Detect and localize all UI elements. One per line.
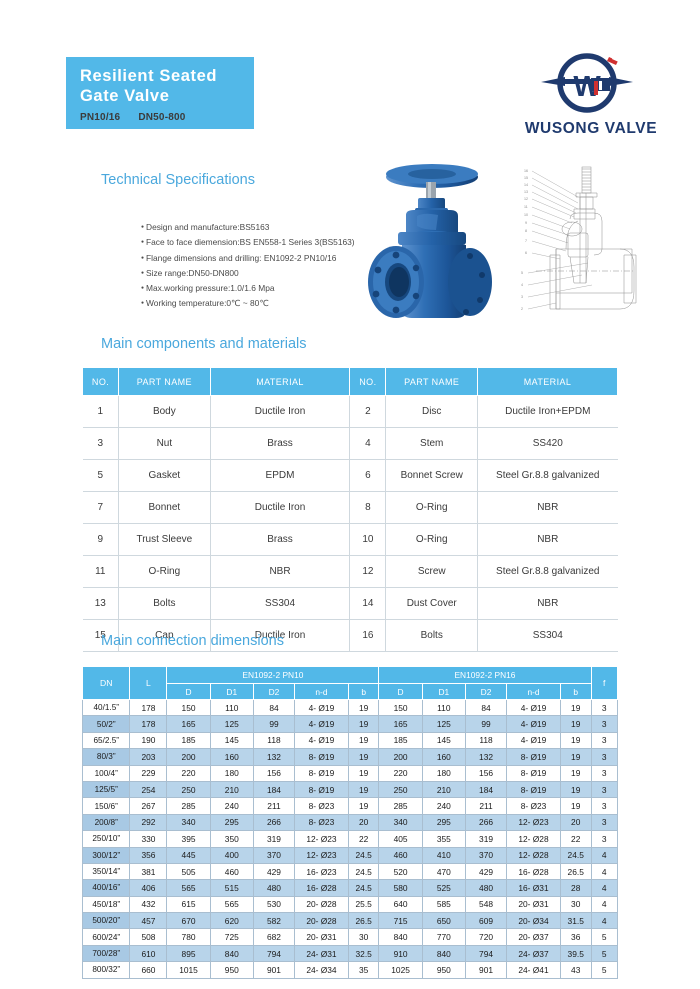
svg-text:16: 16 xyxy=(524,169,528,173)
dimensions-cell: 240 xyxy=(422,798,465,814)
technical-specifications-heading: Technical Specifications xyxy=(101,172,255,188)
dimensions-cell: 12- Ø28 xyxy=(507,831,561,847)
svg-text:7: 7 xyxy=(525,239,527,243)
table-row: 600/24”50878072568220- Ø313084077072020-… xyxy=(83,929,618,945)
table-row: 13 Bolts SS304 14 Dust Cover NBR xyxy=(83,588,618,620)
dimensions-cell: 24- Ø37 xyxy=(507,945,561,961)
dimensions-cell: 292 xyxy=(130,814,167,830)
table-row: 700/28”61089584079424- Ø3132.59108407942… xyxy=(83,945,618,961)
dimensions-table-body: 40/1.5”178150110844- Ø1919150110844- Ø19… xyxy=(83,700,618,979)
cell: NBR xyxy=(478,588,618,620)
dimensions-cell: 8- Ø19 xyxy=(295,765,349,781)
dimensions-cell-dn: 200/8” xyxy=(83,814,130,830)
dimensions-cell: 19 xyxy=(560,749,591,765)
dimensions-cell: 132 xyxy=(465,749,506,765)
dimensions-cell: 381 xyxy=(130,863,167,879)
dimensions-cell: 340 xyxy=(379,814,422,830)
cell: Disc xyxy=(386,396,478,428)
dimensions-cell: 84 xyxy=(465,700,506,716)
cell: 11 xyxy=(83,556,119,588)
dimensions-cell: 184 xyxy=(465,781,506,797)
dimensions-cell: 180 xyxy=(422,765,465,781)
dimensions-cell: 340 xyxy=(167,814,210,830)
dimensions-cell: 267 xyxy=(130,798,167,814)
product-title-line2: Gate Valve xyxy=(80,86,254,106)
dimensions-cell: 145 xyxy=(422,732,465,748)
table-row: 50/2”178165125994- Ø1919165125994- Ø1919… xyxy=(83,716,618,732)
dimensions-cell: 118 xyxy=(465,732,506,748)
dimensions-cell: 39.5 xyxy=(560,945,591,961)
materials-header-cell: PART NAME xyxy=(119,368,211,396)
dimensions-cell: 20- Ø28 xyxy=(295,896,349,912)
dimensions-cell: 185 xyxy=(379,732,422,748)
dimensions-cell: 24- Ø34 xyxy=(295,962,349,978)
svg-text:3: 3 xyxy=(521,295,523,299)
product-title-line1: Resilient Seated xyxy=(80,66,254,86)
cell: O-Ring xyxy=(386,524,478,556)
dimensions-group-pn10: EN1092-2 PN10 xyxy=(167,667,379,684)
dimensions-cell-dn: 50/2” xyxy=(83,716,130,732)
dimensions-cell: 19 xyxy=(348,781,379,797)
wusong-circle-w-logo-icon: W xyxy=(535,52,639,118)
dimensions-cell: 910 xyxy=(379,945,422,961)
dimensions-cell: 30 xyxy=(348,929,379,945)
dimensions-cell: 178 xyxy=(130,716,167,732)
brand-name: WUSONG VALVE xyxy=(505,120,677,138)
dimensions-cell: 19 xyxy=(560,716,591,732)
cell: 4 xyxy=(350,428,386,460)
dimensions-cell: 4- Ø19 xyxy=(295,716,349,732)
dimensions-cell-dn: 80/3” xyxy=(83,749,130,765)
dimensions-cell: 266 xyxy=(465,814,506,830)
cell: Ductile Iron xyxy=(210,492,350,524)
dimensions-cell: 31.5 xyxy=(560,913,591,929)
dimensions-cell: 3 xyxy=(591,749,618,765)
dimensions-cell: 25.5 xyxy=(348,896,379,912)
dimensions-cell: 211 xyxy=(253,798,294,814)
dimensions-cell: 165 xyxy=(379,716,422,732)
cell: Bonnet Screw xyxy=(386,460,478,492)
dimensions-cell: 24.5 xyxy=(348,847,379,863)
dimensions-cell-dn: 600/24” xyxy=(83,929,130,945)
product-photo xyxy=(362,160,512,325)
dimensions-cell: 615 xyxy=(167,896,210,912)
dimensions-cell-dn: 100/4” xyxy=(83,765,130,781)
cell: Bonnet xyxy=(119,492,211,524)
dimensions-cell: 4- Ø19 xyxy=(295,700,349,716)
table-row: 5 Gasket EPDM 6 Bonnet Screw Steel Gr.8.… xyxy=(83,460,618,492)
dimensions-cell: 184 xyxy=(253,781,294,797)
dimensions-cell: 24.5 xyxy=(348,880,379,896)
dimensions-cell: 19 xyxy=(560,700,591,716)
dimensions-cell: 395 xyxy=(167,831,210,847)
dimensions-cell: 585 xyxy=(422,896,465,912)
dimensions-cell: 19 xyxy=(348,765,379,781)
dimensions-header-cell: n-d xyxy=(507,684,561,700)
cell: Brass xyxy=(210,524,350,556)
dimensions-cell: 266 xyxy=(253,814,294,830)
cell: NBR xyxy=(478,492,618,524)
dimensions-cell: 895 xyxy=(167,945,210,961)
table-row: 100/4”2292201801568- Ø19192201801568- Ø1… xyxy=(83,765,618,781)
dimensions-cell: 355 xyxy=(422,831,465,847)
dimensions-cell: 110 xyxy=(422,700,465,716)
dimensions-cell: 950 xyxy=(210,962,253,978)
product-subtitle-dn: DN50-800 xyxy=(138,112,185,123)
cell: Nut xyxy=(119,428,211,460)
dimensions-cell: 156 xyxy=(465,765,506,781)
table-row: 150/6”2672852402118- Ø23192852402118- Ø2… xyxy=(83,798,618,814)
dimensions-cell: 429 xyxy=(465,863,506,879)
dimensions-cell: 457 xyxy=(130,913,167,929)
cell: Trust Sleeve xyxy=(119,524,211,556)
dimensions-cell: 32.5 xyxy=(348,945,379,961)
dimensions-cell: 26.5 xyxy=(560,863,591,879)
dimensions-cell-dn: 350/14” xyxy=(83,863,130,879)
table-row: 350/14”38150546042916- Ø2324.55204704291… xyxy=(83,863,618,879)
dimensions-cell: 580 xyxy=(379,880,422,896)
dimensions-cell: 3 xyxy=(591,732,618,748)
dimensions-cell: 410 xyxy=(422,847,465,863)
dimensions-cell: 319 xyxy=(465,831,506,847)
svg-text:6: 6 xyxy=(525,251,527,255)
table-row: 125/5”2542502101848- Ø19192502101848- Ø1… xyxy=(83,781,618,797)
dimensions-cell: 901 xyxy=(465,962,506,978)
dimensions-cell: 4 xyxy=(591,863,618,879)
dimensions-cell-dn: 700/28” xyxy=(83,945,130,961)
cell: NBR xyxy=(210,556,350,588)
dimensions-cell: 3 xyxy=(591,814,618,830)
dimensions-cell: 5 xyxy=(591,962,618,978)
dimensions-cell: 620 xyxy=(210,913,253,929)
svg-text:5: 5 xyxy=(521,271,523,275)
dimensions-cell: 250 xyxy=(167,781,210,797)
dimensions-cell: 19 xyxy=(560,765,591,781)
table-row: 300/12”35644540037012- Ø2324.54604103701… xyxy=(83,847,618,863)
dimensions-cell: 670 xyxy=(167,913,210,929)
dimensions-cell: 370 xyxy=(465,847,506,863)
dimensions-cell: 99 xyxy=(465,716,506,732)
svg-text:15: 15 xyxy=(524,176,528,180)
dimensions-table: DN L EN1092-2 PN10 EN1092-2 PN16 f D D1 … xyxy=(82,666,618,979)
dimensions-cell: 725 xyxy=(210,929,253,945)
cell: 9 xyxy=(83,524,119,556)
dimensions-cell: 4- Ø19 xyxy=(507,716,561,732)
dimensions-cell: 12- Ø28 xyxy=(507,847,561,863)
dimensions-cell: 330 xyxy=(130,831,167,847)
dimensions-cell: 160 xyxy=(210,749,253,765)
dimensions-cell-dn: 800/32” xyxy=(83,962,130,978)
dimensions-cell: 28 xyxy=(560,880,591,896)
dimensions-cell: 794 xyxy=(465,945,506,961)
dimensions-cell: 8- Ø23 xyxy=(295,798,349,814)
materials-table-header-row: NO. PART NAME MATERIAL NO. PART NAME MAT… xyxy=(83,368,618,396)
dimensions-header-cell: D1 xyxy=(210,684,253,700)
table-row: 200/8”2923402952668- Ø232034029526612- Ø… xyxy=(83,814,618,830)
cell: EPDM xyxy=(210,460,350,492)
dimensions-cell: 3 xyxy=(591,716,618,732)
dimensions-cell: 26.5 xyxy=(348,913,379,929)
dimensions-cell: 24.5 xyxy=(348,863,379,879)
dimensions-cell: 4 xyxy=(591,913,618,929)
product-title-box: Resilient Seated Gate Valve PN10/16DN50-… xyxy=(66,57,254,129)
svg-text:13: 13 xyxy=(524,190,528,194)
dimensions-cell: 4- Ø19 xyxy=(507,732,561,748)
dimensions-cell: 19 xyxy=(560,781,591,797)
dimensions-cell: 840 xyxy=(422,945,465,961)
table-row: 40/1.5”178150110844- Ø1919150110844- Ø19… xyxy=(83,700,618,716)
svg-text:12: 12 xyxy=(524,197,528,201)
dimensions-cell: 240 xyxy=(210,798,253,814)
dimensions-cell: 356 xyxy=(130,847,167,863)
dimensions-cell: 565 xyxy=(210,896,253,912)
table-row: 250/10”33039535031912- Ø232240535531912-… xyxy=(83,831,618,847)
dimensions-cell: 794 xyxy=(253,945,294,961)
dimensions-cell: 8- Ø19 xyxy=(507,749,561,765)
dimensions-cell: 19 xyxy=(348,700,379,716)
dimensions-cell: 110 xyxy=(210,700,253,716)
svg-text:10: 10 xyxy=(524,213,528,217)
dimensions-cell-dn: 450/18” xyxy=(83,896,130,912)
dimensions-cell: 20 xyxy=(348,814,379,830)
table-row: 80/3”2032001601328- Ø19192001601328- Ø19… xyxy=(83,749,618,765)
dimensions-group-pn16: EN1092-2 PN16 xyxy=(379,667,591,684)
dimensions-cell: 460 xyxy=(210,863,253,879)
dimensions-cell: 720 xyxy=(465,929,506,945)
dimensions-cell: 16- Ø28 xyxy=(295,880,349,896)
dimensions-cell: 901 xyxy=(253,962,294,978)
table-row: 11 O-Ring NBR 12 Screw Steel Gr.8.8 galv… xyxy=(83,556,618,588)
cell: 12 xyxy=(350,556,386,588)
product-subtitle-pn: PN10/16 xyxy=(80,112,120,123)
cell: Body xyxy=(119,396,211,428)
svg-text:11: 11 xyxy=(524,205,528,209)
table-row: 1 Body Ductile Iron 2 Disc Ductile Iron+… xyxy=(83,396,618,428)
dimensions-cell: 400 xyxy=(210,847,253,863)
dimensions-cell: 406 xyxy=(130,880,167,896)
dimensions-group-header-row: DN L EN1092-2 PN10 EN1092-2 PN16 f xyxy=(83,667,618,684)
dimensions-cell: 650 xyxy=(422,913,465,929)
dimensions-cell: 780 xyxy=(167,929,210,945)
dimensions-cell: 4 xyxy=(591,896,618,912)
dimensions-cell: 770 xyxy=(422,929,465,945)
dimensions-header-cell: b xyxy=(348,684,379,700)
cell: SS420 xyxy=(478,428,618,460)
dimensions-cell: 295 xyxy=(422,814,465,830)
dimensions-cell: 190 xyxy=(130,732,167,748)
dimensions-cell: 429 xyxy=(253,863,294,879)
dimensions-cell: 150 xyxy=(379,700,422,716)
dimensions-cell-dn: 150/6” xyxy=(83,798,130,814)
dimensions-cell: 350 xyxy=(210,831,253,847)
svg-text:9: 9 xyxy=(525,221,527,225)
main-components-heading: Main components and materials xyxy=(101,336,307,352)
dimensions-cell: 520 xyxy=(379,863,422,879)
dimensions-cell: 16- Ø23 xyxy=(295,863,349,879)
dimensions-cell: 150 xyxy=(167,700,210,716)
dimensions-cell: 319 xyxy=(253,831,294,847)
dimensions-cell: 254 xyxy=(130,781,167,797)
dimensions-cell: 1025 xyxy=(379,962,422,978)
dimensions-cell: 99 xyxy=(253,716,294,732)
dimensions-cell: 19 xyxy=(348,716,379,732)
dimensions-cell: 200 xyxy=(167,749,210,765)
dimensions-cell: 132 xyxy=(253,749,294,765)
dimensions-cell: 180 xyxy=(210,765,253,781)
cell: Steel Gr.8.8 galvanized xyxy=(478,556,618,588)
dimensions-cell: 203 xyxy=(130,749,167,765)
dimensions-cell: 20- Ø34 xyxy=(507,913,561,929)
dimensions-cell: 3 xyxy=(591,781,618,797)
dimensions-header-cell: n-d xyxy=(295,684,349,700)
dimensions-cell: 16- Ø28 xyxy=(507,863,561,879)
materials-header-cell: NO. xyxy=(83,368,119,396)
dimensions-cell: 3 xyxy=(591,700,618,716)
dimensions-cell: 370 xyxy=(253,847,294,863)
dimensions-cell: 565 xyxy=(167,880,210,896)
cell: 5 xyxy=(83,460,119,492)
dimensions-cell: 250 xyxy=(379,781,422,797)
dimensions-cell: 12- Ø23 xyxy=(295,831,349,847)
dimensions-cell: 35 xyxy=(348,962,379,978)
materials-header-cell: MATERIAL xyxy=(210,368,350,396)
cell: SS304 xyxy=(478,620,618,652)
table-row: 800/32”660101595090124- Ø343510259509012… xyxy=(83,962,618,978)
dimensions-header-cell: D xyxy=(167,684,210,700)
dimensions-cell: 515 xyxy=(210,880,253,896)
cell: Ductile Iron xyxy=(210,396,350,428)
dimensions-cell: 1015 xyxy=(167,962,210,978)
dimensions-cell: 20- Ø28 xyxy=(295,913,349,929)
dimensions-cell: 43 xyxy=(560,962,591,978)
dimensions-cell: 20 xyxy=(560,814,591,830)
dimensions-cell: 530 xyxy=(253,896,294,912)
dimensions-cell: 229 xyxy=(130,765,167,781)
dimensions-cell: 950 xyxy=(422,962,465,978)
dimensions-cell: 480 xyxy=(253,880,294,896)
cell: 7 xyxy=(83,492,119,524)
dimensions-cell: 156 xyxy=(253,765,294,781)
dimensions-header-f: f xyxy=(591,667,618,700)
cell: O-Ring xyxy=(119,556,211,588)
dimensions-cell: 548 xyxy=(465,896,506,912)
cell: Brass xyxy=(210,428,350,460)
dimensions-cell: 210 xyxy=(210,781,253,797)
dimensions-cell: 840 xyxy=(379,929,422,945)
dimensions-cell: 4- Ø19 xyxy=(507,700,561,716)
dimensions-cell: 470 xyxy=(422,863,465,879)
dimensions-cell: 30 xyxy=(560,896,591,912)
cell: 3 xyxy=(83,428,119,460)
cell: 14 xyxy=(350,588,386,620)
dimensions-cell: 5 xyxy=(591,929,618,945)
brand-logo: W WUSONG VALVE xyxy=(505,52,677,150)
dimensions-cell-dn: 125/5” xyxy=(83,781,130,797)
dimensions-cell: 16- Ø31 xyxy=(507,880,561,896)
svg-text:8: 8 xyxy=(525,229,527,233)
dimensions-cell: 285 xyxy=(167,798,210,814)
cell: Stem xyxy=(386,428,478,460)
svg-text:4: 4 xyxy=(521,283,523,287)
table-row: 7 Bonnet Ductile Iron 8 O-Ring NBR xyxy=(83,492,618,524)
dimensions-cell-dn: 500/20” xyxy=(83,913,130,929)
materials-header-cell: NO. xyxy=(350,368,386,396)
dimensions-cell: 3 xyxy=(591,765,618,781)
cell: 10 xyxy=(350,524,386,556)
dimensions-cell-dn: 400/16” xyxy=(83,880,130,896)
cell: Steel Gr.8.8 galvanized xyxy=(478,460,618,492)
dimensions-cell: 4 xyxy=(591,880,618,896)
table-row: 500/20”45767062058220- Ø2826.57156506092… xyxy=(83,913,618,929)
dimensions-header-cell: D2 xyxy=(253,684,294,700)
dimensions-cell-dn: 40/1.5” xyxy=(83,700,130,716)
dimensions-cell: 285 xyxy=(379,798,422,814)
dimensions-cell: 582 xyxy=(253,913,294,929)
dimensions-cell: 19 xyxy=(348,749,379,765)
dimensions-cell: 660 xyxy=(130,962,167,978)
dimensions-header-l: L xyxy=(130,667,167,700)
table-row: 3 Nut Brass 4 Stem SS420 xyxy=(83,428,618,460)
materials-table: NO. PART NAME MATERIAL NO. PART NAME MAT… xyxy=(82,367,618,652)
dimensions-cell: 295 xyxy=(210,814,253,830)
dimensions-cell: 24- Ø31 xyxy=(295,945,349,961)
dimensions-cell: 525 xyxy=(422,880,465,896)
dimensions-cell: 178 xyxy=(130,700,167,716)
dimensions-cell: 19 xyxy=(560,798,591,814)
dimensions-cell: 118 xyxy=(253,732,294,748)
dimensions-cell: 8- Ø19 xyxy=(507,765,561,781)
dimensions-cell: 160 xyxy=(422,749,465,765)
dimensions-cell: 20- Ø37 xyxy=(507,929,561,945)
dimensions-cell: 8- Ø23 xyxy=(295,814,349,830)
dimensions-cell: 84 xyxy=(253,700,294,716)
dimensions-cell: 12- Ø23 xyxy=(295,847,349,863)
cell: 6 xyxy=(350,460,386,492)
dimensions-cell: 508 xyxy=(130,929,167,945)
main-connection-heading: Main connection dimensions xyxy=(101,633,284,649)
dimensions-cell-dn: 65/2.5” xyxy=(83,732,130,748)
cell: SS304 xyxy=(210,588,350,620)
dimensions-cell: 715 xyxy=(379,913,422,929)
dimensions-header-cell: b xyxy=(560,684,591,700)
cell: Ductile Iron+EPDM xyxy=(478,396,618,428)
dimensions-cell: 5 xyxy=(591,945,618,961)
dimensions-cell: 405 xyxy=(379,831,422,847)
cell: NBR xyxy=(478,524,618,556)
dimensions-cell: 220 xyxy=(379,765,422,781)
dimensions-cell: 840 xyxy=(210,945,253,961)
dimensions-cell: 210 xyxy=(422,781,465,797)
dimensions-cell: 640 xyxy=(379,896,422,912)
table-row: 450/18”43261556553020- Ø2825.56405855482… xyxy=(83,896,618,912)
dimensions-header-dn: DN xyxy=(83,667,130,700)
dimensions-header-cell: D2 xyxy=(465,684,506,700)
cell: 8 xyxy=(350,492,386,524)
dimensions-cell: 609 xyxy=(465,913,506,929)
dimensions-cell: 8- Ø19 xyxy=(295,749,349,765)
dimensions-cell: 200 xyxy=(379,749,422,765)
dimensions-header-cell: D xyxy=(379,684,422,700)
dimensions-cell-dn: 250/10” xyxy=(83,831,130,847)
dimensions-cell: 682 xyxy=(253,929,294,945)
dimensions-cell: 22 xyxy=(348,831,379,847)
product-subtitle: PN10/16DN50-800 xyxy=(80,112,254,123)
materials-header-cell: PART NAME xyxy=(386,368,478,396)
dimensions-cell: 8- Ø23 xyxy=(507,798,561,814)
cell: Bolts xyxy=(386,620,478,652)
cell: Bolts xyxy=(119,588,211,620)
dimensions-cell: 12- Ø23 xyxy=(507,814,561,830)
